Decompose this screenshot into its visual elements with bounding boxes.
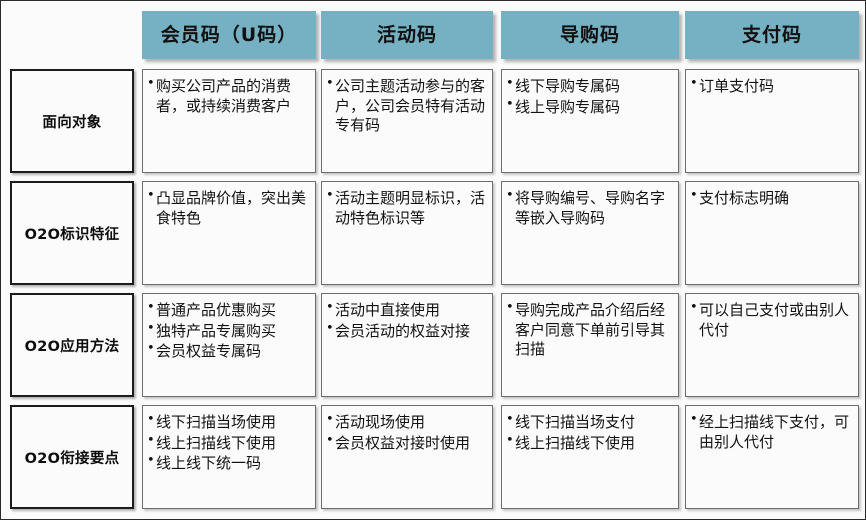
row-label-linkage: O2O衔接要点 <box>10 405 134 509</box>
cell-linkage-campaign-list: 活动现场使用 会员权益对接时使用 <box>326 413 488 453</box>
cell-method-campaign-list: 活动中直接使用 会员活动的权益对接 <box>326 301 488 341</box>
cell-audience-payment: 订单支付码 <box>685 69 859 173</box>
cell-identity-guide-list: 将导购编号、导购名字等嵌入导购码 <box>506 189 674 228</box>
cell-linkage-member-list: 线下扫描当场使用 线上扫描线下使用 线上线下统一码 <box>147 413 311 474</box>
list-item: 线上扫描线下使用 <box>506 434 674 454</box>
cell-method-payment-list: 可以自己支付或由别人代付 <box>690 301 854 340</box>
list-item: 凸显品牌价值，突出美食特色 <box>147 189 311 228</box>
cell-identity-member-list: 凸显品牌价值，突出美食特色 <box>147 189 311 228</box>
list-item: 线上导购专属码 <box>506 98 674 118</box>
cell-identity-member: 凸显品牌价值，突出美食特色 <box>142 181 316 285</box>
column-header-member: 会员码（U码） <box>142 11 316 59</box>
cell-audience-campaign-list: 公司主题活动参与的客户，公司会员特有活动专有码 <box>326 77 488 136</box>
list-item: 线下扫描当场使用 <box>147 413 311 433</box>
column-header-payment: 支付码 <box>685 11 859 59</box>
row-label-audience: 面向对象 <box>10 69 134 173</box>
column-header-guide: 导购码 <box>501 11 679 59</box>
list-item: 独特产品专属购买 <box>147 322 311 342</box>
cell-audience-guide-list: 线下导购专属码 线上导购专属码 <box>506 77 674 117</box>
list-item: 活动现场使用 <box>326 413 488 433</box>
list-item: 支付标志明确 <box>690 189 854 209</box>
cell-identity-campaign: 活动主题明显标识，活动特色标识等 <box>321 181 493 285</box>
cell-identity-payment: 支付标志明确 <box>685 181 859 285</box>
list-item: 会员权益对接时使用 <box>326 434 488 454</box>
cell-linkage-payment-list: 经上扫描线下支付，可由别人代付 <box>690 413 854 452</box>
list-item: 线上线下统一码 <box>147 454 311 474</box>
cell-method-guide: 导购完成产品介绍后经客户同意下单前引导其扫描 <box>501 293 679 397</box>
row-label-identity: O2O标识特征 <box>10 181 134 285</box>
list-item: 公司主题活动参与的客户，公司会员特有活动专有码 <box>326 77 488 136</box>
column-header-member-label: 会员码（U码） <box>161 25 297 46</box>
list-item: 会员权益专属码 <box>147 342 311 362</box>
list-item: 经上扫描线下支付，可由别人代付 <box>690 413 854 452</box>
cell-identity-guide: 将导购编号、导购名字等嵌入导购码 <box>501 181 679 285</box>
column-header-campaign: 活动码 <box>321 11 493 59</box>
list-item: 普通产品优惠购买 <box>147 301 311 321</box>
cell-linkage-guide: 线下扫描当场支付 线上扫描线下使用 <box>501 405 679 509</box>
list-item: 线上扫描线下使用 <box>147 434 311 454</box>
cell-linkage-campaign: 活动现场使用 会员权益对接时使用 <box>321 405 493 509</box>
cell-identity-campaign-list: 活动主题明显标识，活动特色标识等 <box>326 189 488 228</box>
list-item: 活动主题明显标识，活动特色标识等 <box>326 189 488 228</box>
cell-linkage-guide-list: 线下扫描当场支付 线上扫描线下使用 <box>506 413 674 453</box>
column-header-campaign-label: 活动码 <box>377 25 437 46</box>
cell-method-member-list: 普通产品优惠购买 独特产品专属购买 会员权益专属码 <box>147 301 311 362</box>
cell-audience-member: 购买公司产品的消费者，或持续消费客户 <box>142 69 316 173</box>
list-item: 会员活动的权益对接 <box>326 322 488 342</box>
cell-method-payment: 可以自己支付或由别人代付 <box>685 293 859 397</box>
list-item: 将导购编号、导购名字等嵌入导购码 <box>506 189 674 228</box>
cell-method-member: 普通产品优惠购买 独特产品专属购买 会员权益专属码 <box>142 293 316 397</box>
column-header-payment-label: 支付码 <box>742 25 802 46</box>
comparison-table: 会员码（U码） 活动码 导购码 支付码 面向对象 购买公司产品的消费者，或持续消… <box>1 1 866 520</box>
list-item: 活动中直接使用 <box>326 301 488 321</box>
column-header-guide-label: 导购码 <box>560 25 620 46</box>
row-label-method: O2O应用方法 <box>10 293 134 397</box>
cell-linkage-payment: 经上扫描线下支付，可由别人代付 <box>685 405 859 509</box>
cell-audience-guide: 线下导购专属码 线上导购专属码 <box>501 69 679 173</box>
list-item: 导购完成产品介绍后经客户同意下单前引导其扫描 <box>506 301 674 360</box>
row-label-identity-text: O2O标识特征 <box>25 223 120 244</box>
list-item: 购买公司产品的消费者，或持续消费客户 <box>147 77 311 116</box>
cell-method-guide-list: 导购完成产品介绍后经客户同意下单前引导其扫描 <box>506 301 674 360</box>
cell-identity-payment-list: 支付标志明确 <box>690 189 854 209</box>
list-item: 可以自己支付或由别人代付 <box>690 301 854 340</box>
list-item: 线下导购专属码 <box>506 77 674 97</box>
cell-linkage-member: 线下扫描当场使用 线上扫描线下使用 线上线下统一码 <box>142 405 316 509</box>
cell-audience-payment-list: 订单支付码 <box>690 77 854 97</box>
list-item: 订单支付码 <box>690 77 854 97</box>
cell-audience-member-list: 购买公司产品的消费者，或持续消费客户 <box>147 77 311 116</box>
cell-audience-campaign: 公司主题活动参与的客户，公司会员特有活动专有码 <box>321 69 493 173</box>
row-label-method-text: O2O应用方法 <box>25 335 120 356</box>
row-label-linkage-text: O2O衔接要点 <box>25 447 120 468</box>
slide-canvas: 会员码（U码） 活动码 导购码 支付码 面向对象 购买公司产品的消费者，或持续消… <box>0 0 866 520</box>
cell-method-campaign: 活动中直接使用 会员活动的权益对接 <box>321 293 493 397</box>
list-item: 线下扫描当场支付 <box>506 413 674 433</box>
row-label-audience-text: 面向对象 <box>42 111 101 132</box>
